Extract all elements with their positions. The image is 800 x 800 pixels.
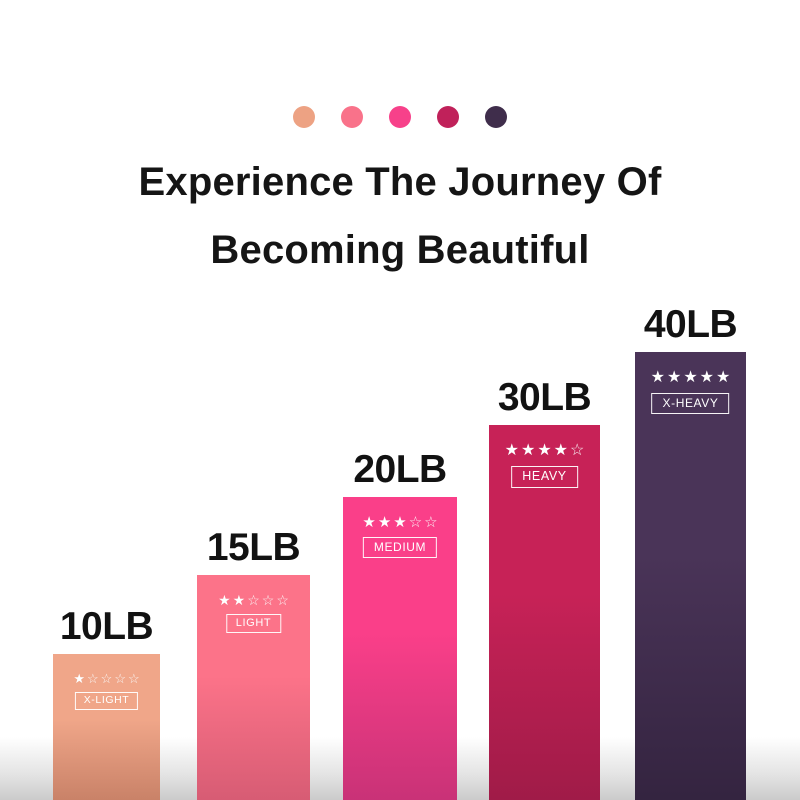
bar-15lb[interactable]: 15LB★★☆☆☆LIGHT [197,575,310,800]
star-rating: ★★★☆☆ [362,515,437,530]
page-title-line-2: Becoming Beautiful [0,216,800,284]
bar-tag-label: LIGHT [226,614,281,633]
bar-weight-label: 30LB [498,378,591,417]
bar-tag-label: MEDIUM [363,537,437,558]
star-empty-icon: ☆ [424,515,437,530]
bar-fill: ★☆☆☆☆X-LIGHT [53,654,160,800]
star-filled-icon: ★ [651,370,665,386]
bar-tag-label: HEAVY [511,466,577,488]
product-infographic: Experience The Journey Of Becoming Beaut… [0,0,800,800]
bar-10lb[interactable]: 10LB★☆☆☆☆X-LIGHT [53,654,160,800]
bar-tag-label: X-LIGHT [75,692,139,710]
star-filled-icon: ★ [73,672,85,685]
star-rating: ★☆☆☆☆ [73,672,139,685]
star-filled-icon: ★ [667,370,681,386]
dot-heavy [437,106,459,128]
page-title: Experience The Journey Of Becoming Beaut… [0,148,800,284]
bar-tag-label: X-HEAVY [651,393,729,414]
star-empty-icon: ☆ [247,593,260,607]
star-rating: ★★☆☆☆ [218,593,289,607]
dot-x-light [293,106,315,128]
star-empty-icon: ☆ [262,593,275,607]
star-filled-icon: ★ [505,443,519,459]
bar-weight-label: 40LB [644,305,737,344]
star-filled-icon: ★ [521,443,535,459]
bar-badge: ★★☆☆☆LIGHT [204,593,303,633]
star-empty-icon: ☆ [128,672,140,685]
bar-badge: ★★★★☆HEAVY [496,443,594,488]
star-filled-icon: ★ [362,515,375,530]
star-rating: ★★★★★ [651,370,731,386]
dot-medium [389,106,411,128]
bar-fill: ★★★★☆HEAVY [489,425,600,800]
star-filled-icon: ★ [716,370,730,386]
star-filled-icon: ★ [218,593,231,607]
bar-badge: ★★★★★X-HEAVY [642,370,740,414]
bar-badge: ★★★☆☆MEDIUM [350,515,450,558]
bar-30lb[interactable]: 30LB★★★★☆HEAVY [489,425,600,800]
star-filled-icon: ★ [554,443,568,459]
star-rating: ★★★★☆ [505,443,585,459]
star-filled-icon: ★ [378,515,391,530]
bar-40lb[interactable]: 40LB★★★★★X-HEAVY [635,352,746,800]
bar-fill: ★★★★★X-HEAVY [635,352,746,800]
star-empty-icon: ☆ [276,593,289,607]
dot-x-heavy [485,106,507,128]
star-empty-icon: ☆ [114,672,126,685]
bar-weight-label: 15LB [207,528,300,567]
page-title-line-1: Experience The Journey Of [0,148,800,216]
star-filled-icon: ★ [233,593,246,607]
star-filled-icon: ★ [393,515,406,530]
color-swatch-row [0,106,800,128]
bar-fill: ★★☆☆☆LIGHT [197,575,310,800]
star-empty-icon: ☆ [570,443,584,459]
star-filled-icon: ★ [700,370,714,386]
star-empty-icon: ☆ [409,515,422,530]
dot-light [341,106,363,128]
bar-fill: ★★★☆☆MEDIUM [343,497,457,800]
bar-weight-label: 20LB [353,450,446,489]
star-filled-icon: ★ [683,370,697,386]
bar-weight-label: 10LB [60,607,153,646]
bar-20lb[interactable]: 20LB★★★☆☆MEDIUM [343,497,457,800]
star-empty-icon: ☆ [87,672,99,685]
bar-badge: ★☆☆☆☆X-LIGHT [59,672,153,710]
star-empty-icon: ☆ [101,672,113,685]
star-filled-icon: ★ [537,443,551,459]
